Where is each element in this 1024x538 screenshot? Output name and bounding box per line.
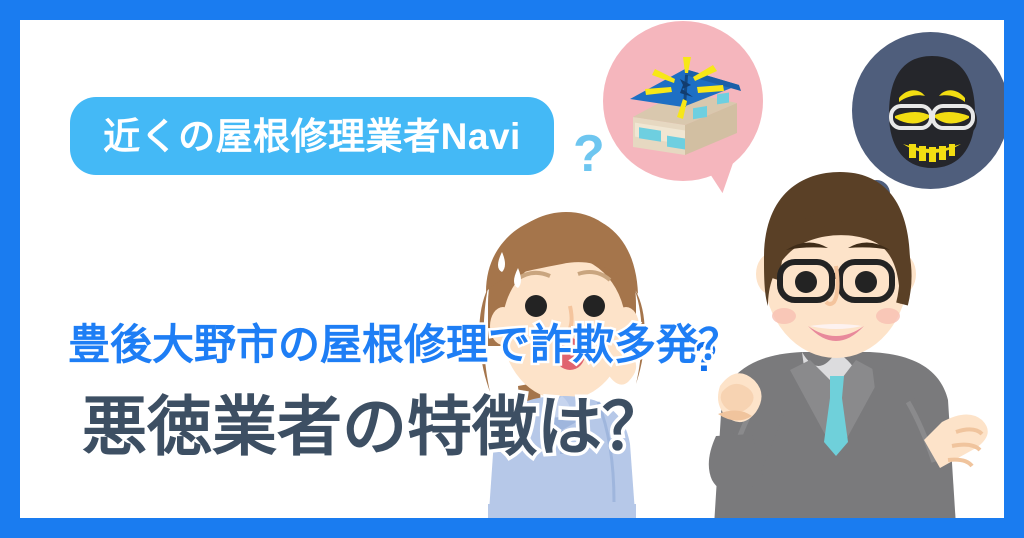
site-name-badge[interactable]: 近くの屋根修理業者Navi [70, 97, 554, 175]
banner-inner-card: ? ? 近くの屋根修理業者Navi 豊後大野市の屋根修理で詐欺多発？ 悪徳業者の… [20, 20, 1004, 518]
damaged-house-icon [625, 55, 745, 155]
headline-line-1: 豊後大野市の屋根修理で詐欺多発？ [68, 324, 740, 366]
badge-question-mark-icon: ? [573, 128, 605, 180]
site-name-label: 近くの屋根修理業者Navi [103, 118, 521, 155]
scammer-face-icon [875, 52, 989, 172]
headline-line-2: 悪徳業者の特徴は？ [82, 394, 667, 459]
banner-canvas: ? ? 近くの屋根修理業者Navi 豊後大野市の屋根修理で詐欺多発？ 悪徳業者の… [0, 0, 1024, 538]
